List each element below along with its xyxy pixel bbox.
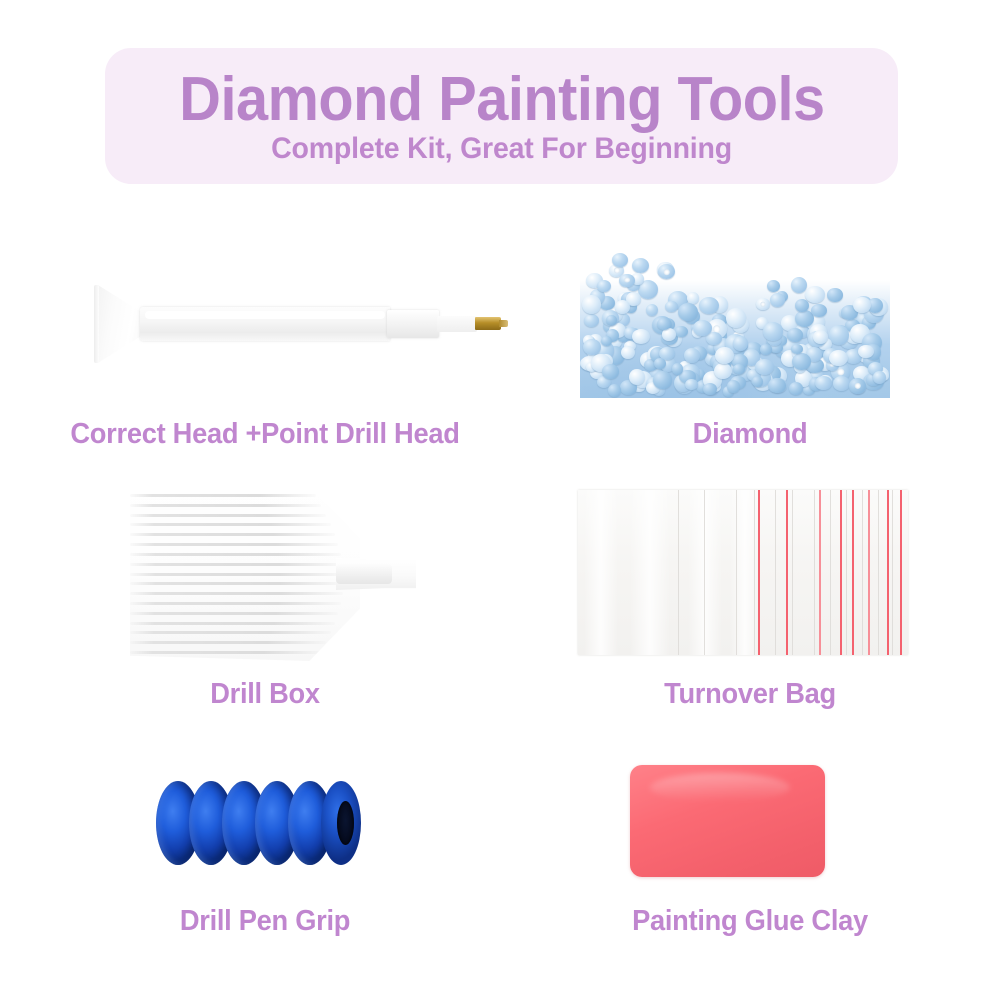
product-label-diamond: Diamond (534, 418, 966, 451)
diamond-drill-bead (601, 336, 612, 347)
diamond-drill-bead (662, 328, 676, 341)
zip-bag-stack (578, 490, 908, 655)
zip-bag-fold (830, 490, 831, 655)
zip-bag-fold (754, 490, 755, 655)
zip-bag-red-stripe (900, 490, 902, 655)
zip-bag-fold (878, 490, 879, 655)
drill-tray-groove (130, 553, 341, 556)
diamond-drill-bead (763, 322, 783, 341)
diamond-drill-bead (815, 376, 832, 390)
diamond-drill-bead (632, 258, 649, 273)
diamond-drill-bead (789, 382, 803, 395)
pen-barrel-highlight (145, 311, 385, 319)
zip-bag-fold (892, 490, 893, 655)
pen-grip-hole (337, 801, 354, 845)
diamond-drill-bead (621, 346, 635, 359)
zip-bag-red-stripe (819, 490, 821, 655)
drill-tray-groove (130, 582, 344, 585)
diamond-drill-bead (632, 329, 650, 344)
diamond-drill-bead (703, 383, 717, 395)
diamond-drill-bead (755, 359, 774, 375)
drill-pen-illustration (65, 270, 515, 380)
product-label-drill-pen-grip: Drill Pen Grip (44, 905, 486, 938)
zip-bag-sheen (730, 490, 760, 655)
diamond-drill-bead (672, 363, 683, 374)
zip-bag-fold (792, 490, 793, 655)
page-title: Diamond Painting Tools (179, 68, 824, 131)
diamond-drill-bead (685, 379, 698, 390)
diamond-drill-bead (792, 353, 811, 370)
zip-bag-sheen (688, 490, 722, 655)
drill-tray-body (130, 486, 360, 661)
drill-tray-illustration (130, 486, 430, 661)
zip-bag-red-stripe (887, 490, 889, 655)
product-item-drill-pen-grip: Drill Pen Grip (30, 755, 500, 970)
diamond-drill-bead (678, 303, 698, 321)
diamond-drill-bead (582, 295, 601, 314)
diamond-drill-bead (687, 292, 699, 304)
diamond-drill-bead (873, 371, 886, 384)
header-banner: Diamond Painting Tools Complete Kit, Gre… (105, 48, 898, 184)
diamond-drill-bead (733, 336, 748, 351)
product-label-correct-head-point-drill-head: Correct Head +Point Drill Head (44, 418, 486, 451)
pen-collar (387, 310, 439, 338)
diamond-drill-bead (665, 301, 678, 312)
zip-bag-fold (814, 490, 815, 655)
product-item-correct-head-point-drill-head: Correct Head +Point Drill Head (30, 240, 500, 470)
pen-correction-head-edge (94, 285, 99, 363)
zip-bag-fold (775, 490, 776, 655)
diamond-drill-bead (733, 364, 745, 374)
pen-gold-tip-icon (475, 317, 501, 330)
drill-tray-groove (130, 612, 338, 615)
product-label-turnover-bag: Turnover Bag (534, 678, 966, 711)
drill-tray-groove (130, 543, 338, 546)
diamond-drill-bead (795, 299, 809, 312)
product-item-painting-glue-clay: Painting Glue Clay (520, 755, 980, 970)
product-item-turnover-bag: Turnover Bag (520, 480, 980, 730)
diamond-drill-bead (619, 274, 634, 287)
pen-correction-head-icon (95, 285, 143, 363)
drill-tray-groove (130, 504, 321, 507)
drill-tray-groove (130, 523, 331, 526)
diamond-drill-bead (714, 363, 732, 379)
diamond-drill-bead (805, 286, 825, 303)
zip-bag-red-stripe (758, 490, 760, 655)
product-label-painting-glue-clay: Painting Glue Clay (534, 905, 966, 938)
diamond-drill-bead (597, 280, 611, 292)
diamond-drill-bead (657, 318, 671, 330)
diamond-drill-bead (791, 344, 803, 354)
drill-tray-groove (130, 573, 344, 576)
zip-bag-sheen (630, 490, 670, 655)
product-infographic: Diamond Painting Tools Complete Kit, Gre… (0, 0, 1000, 1000)
zip-bag-red-stripe (852, 490, 854, 655)
zip-bag-fold (678, 490, 679, 655)
foam-pen-grip-illustration (150, 773, 380, 873)
drill-tray-groove (130, 631, 331, 634)
diamond-drill-bead (727, 380, 740, 393)
zip-bag-fold (736, 490, 737, 655)
drill-tray-groove (130, 592, 343, 595)
zip-bag-red-stripe (840, 490, 842, 655)
zip-bag-sheen (584, 490, 618, 655)
diamond-drill-bead (715, 347, 734, 364)
zip-bag-fold (704, 490, 705, 655)
diamond-drill-bead (760, 344, 772, 355)
drill-tray-groove (130, 533, 335, 536)
diamond-drill-bead (858, 345, 874, 359)
zip-bag-red-stripe (868, 490, 870, 655)
product-label-drill-box: Drill Box (44, 678, 486, 711)
diamond-drill-bead (853, 297, 870, 313)
drill-tray-groove (130, 622, 335, 625)
diamond-drill-pile (580, 248, 890, 398)
diamond-drill-bead (658, 264, 675, 279)
zip-bag-fold (846, 490, 847, 655)
product-item-diamond: Diamond (520, 240, 980, 470)
drill-tray-groove (130, 563, 343, 566)
product-item-drill-box: Drill Box (30, 480, 500, 730)
diamond-drill-bead (583, 339, 601, 355)
diamond-drill-bead (833, 376, 851, 391)
page-subtitle: Complete Kit, Great For Beginning (271, 133, 732, 165)
drill-tray-spout-shadow (336, 564, 392, 584)
diamond-drill-bead (827, 288, 843, 302)
drill-tray-groove (130, 641, 326, 644)
pen-point-drill-head-icon (499, 320, 508, 327)
diamond-drill-bead (752, 376, 763, 387)
drill-tray-groove (130, 494, 316, 497)
diamond-drill-bead (813, 330, 828, 344)
zip-bag-fold (862, 490, 863, 655)
diamond-drill-bead (646, 304, 658, 316)
drill-tray-groove (130, 651, 321, 654)
glue-clay-block (630, 765, 825, 877)
diamond-drill-bead (653, 371, 672, 388)
diamond-drill-bead (612, 253, 628, 267)
drill-tray-groove (130, 602, 341, 605)
glue-clay-highlight (650, 773, 790, 802)
zip-bag-red-stripe (786, 490, 788, 655)
pen-neck (437, 316, 477, 332)
drill-tray-groove (130, 514, 326, 517)
diamond-drill-bead (811, 304, 827, 318)
